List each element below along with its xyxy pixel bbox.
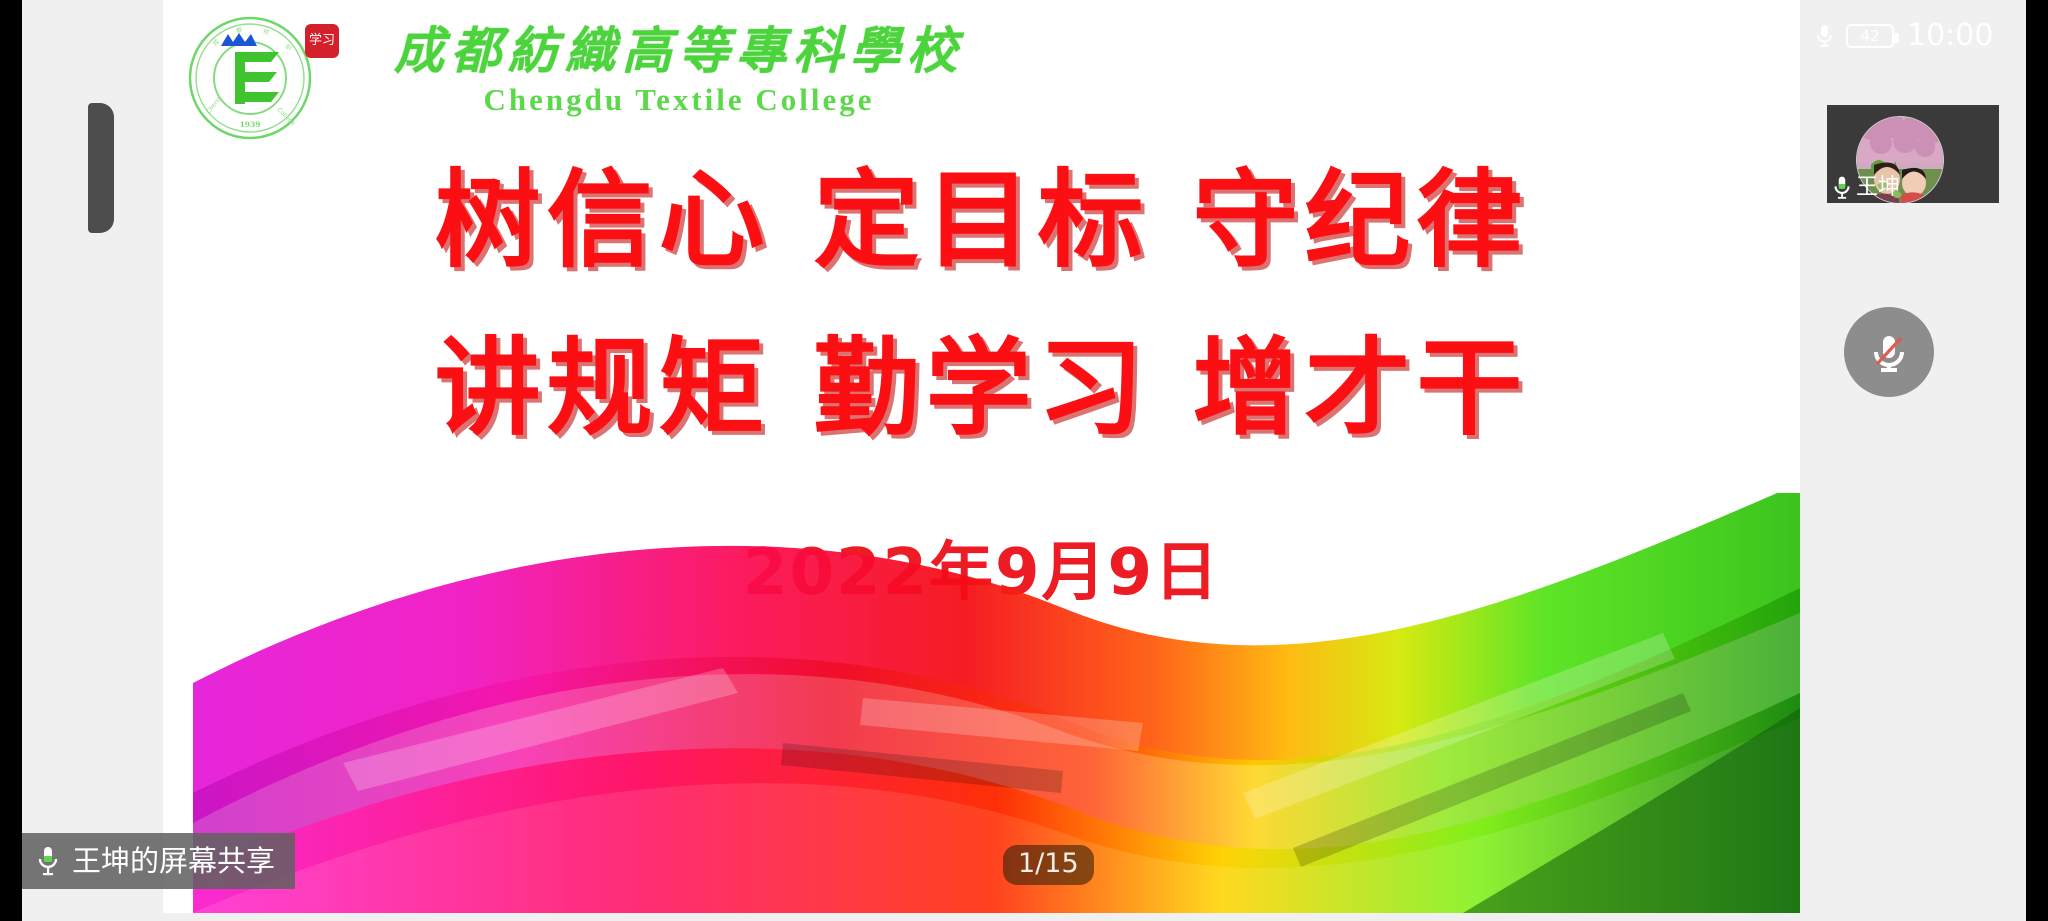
shared-screen-stage[interactable]: 1939 Cheng College 成 都 纺 织 [163,0,1800,913]
school-name-en: Chengdu Textile College [359,80,999,120]
page-indicator: 1/15 [1003,845,1094,885]
right-side-panel: 42 10:00 [1800,0,2026,921]
microphone-muted-icon [1865,328,1913,376]
blue-wave-icon [219,30,259,50]
bezel-left [0,0,22,921]
rainbow-ribbon-graphic [163,493,1800,913]
drawer-handle-icon[interactable] [88,103,114,233]
screen-share-banner-label: 王坤的屏幕共享 [72,846,275,876]
status-bar: 42 10:00 [1800,14,2026,58]
microphone-active-icon [1832,175,1852,201]
slide-header: 1939 Cheng College 成 都 纺 织 [163,8,1800,136]
svg-text:1939: 1939 [240,120,261,129]
microphone-active-icon [36,845,60,877]
microphone-icon [1816,24,1833,48]
battery-level-label: 42 [1860,29,1879,44]
battery-icon: 42 [1846,24,1894,48]
slide-headline-line-2: 讲规矩 勤学习 增才干 [163,330,1800,448]
mic-mute-button[interactable] [1844,307,1934,397]
presentation-slide: 1939 Cheng College 成 都 纺 织 [163,0,1800,913]
screen-share-view: 1939 Cheng College 成 都 纺 织 [0,0,2048,921]
participant-name-label: 王坤 [1856,176,1900,200]
school-name-block: 成都紡織高等專科學校 Chengdu Textile College [359,22,999,120]
svg-text:Cheng: Cheng [205,96,223,116]
bezel-right [2026,0,2048,921]
school-name-cn: 成都紡織高等專科學校 [359,22,999,80]
slide-headline-line-1: 树信心 定目标 守纪律 [163,162,1800,280]
study-badge-icon: 学习 [305,24,339,58]
clock-label: 10:00 [1907,21,1993,51]
participant-thumbnail[interactable]: 王坤 [1827,105,1999,203]
screen-share-banner: 王坤的屏幕共享 [22,833,295,889]
svg-text:纺: 纺 [263,27,271,36]
participant-name-row: 王坤 [1832,175,1900,201]
